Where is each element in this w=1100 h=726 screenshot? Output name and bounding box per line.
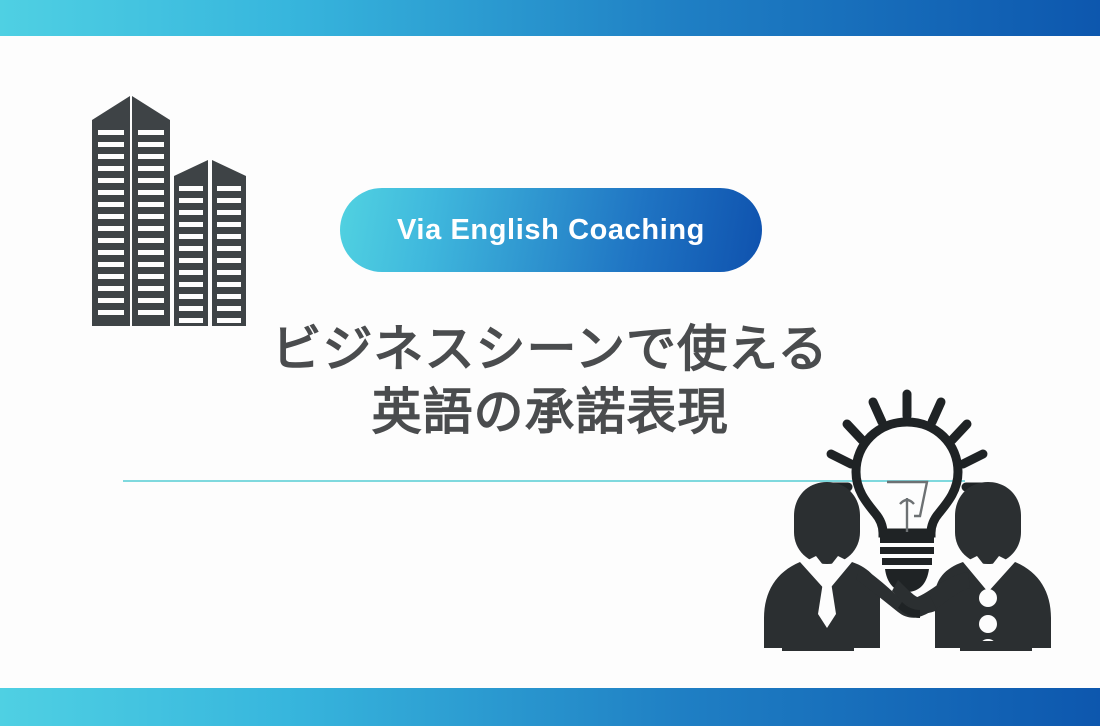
handshake-icon <box>752 386 1062 654</box>
brand-badge: Via English Coaching <box>340 188 762 272</box>
office-buildings-icon <box>82 86 282 334</box>
person-feet <box>782 641 1032 651</box>
thumbnail-canvas: Via English Coaching ビジネスシーンで使える 英語の承諾表現 <box>0 0 1100 726</box>
page-title-line-1: ビジネスシーンで使える <box>150 318 950 381</box>
top-gradient-bar <box>0 0 1100 36</box>
lightbulb-filament <box>887 482 927 532</box>
lightbulb-rays <box>826 394 988 487</box>
brand-badge-label: Via English Coaching <box>397 214 705 247</box>
lightbulb-base <box>880 536 934 592</box>
bottom-gradient-bar <box>0 688 1100 726</box>
